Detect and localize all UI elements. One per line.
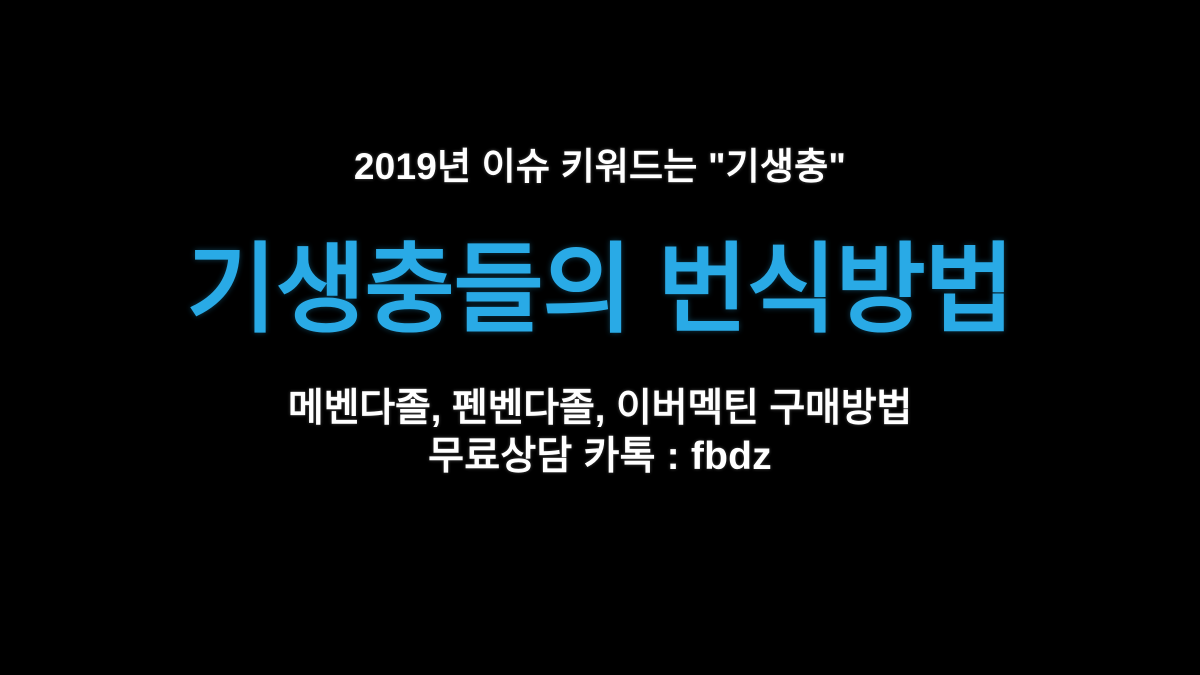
page-title: 기생충들의 번식방법 [0, 241, 1200, 337]
kicker-text: 2019년 이슈 키워드는 "기생충" [0, 148, 1200, 185]
subtitle-product-list: 메벤다졸, 펜벤다졸, 이버멕틴 구매방법 [0, 389, 1200, 428]
subtitle-contact: 무료상담 카톡 : fbdz [0, 437, 1200, 476]
video-title-card: 2019년 이슈 키워드는 "기생충" 기생충들의 번식방법 메벤다졸, 펜벤다… [0, 0, 1200, 675]
title-text-stack: 2019년 이슈 키워드는 "기생충" 기생충들의 번식방법 메벤다졸, 펜벤다… [0, 0, 1200, 675]
